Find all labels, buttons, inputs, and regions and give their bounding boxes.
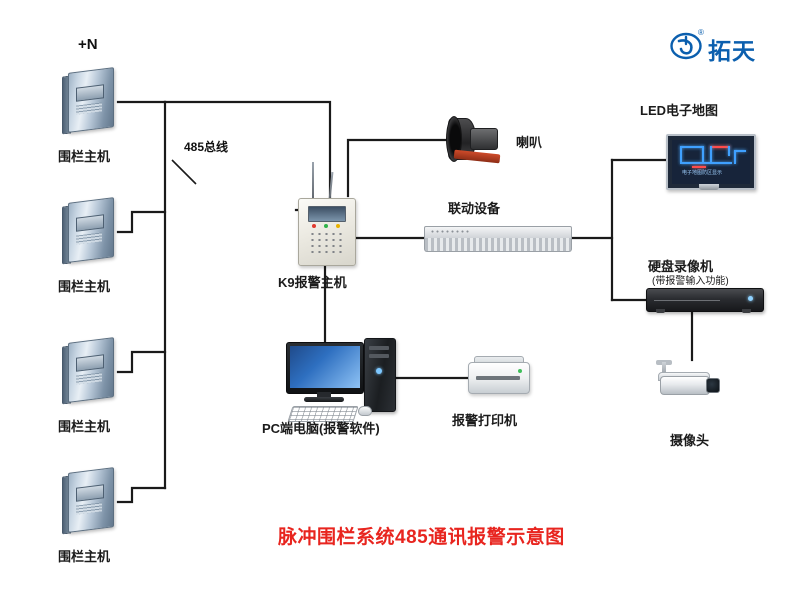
fence-host-icon[interactable] [62,470,118,532]
tower-bay [369,354,389,358]
brand-logo: ® 拓天 [670,28,780,70]
rack-vents [430,229,470,235]
linkage-rack-icon[interactable] [424,226,570,252]
dvr-trim [654,300,720,301]
led-map-screen: 电子地图防区显示 [672,140,750,184]
plus-n-label: +N [78,36,98,53]
status-led-red [312,224,316,228]
horn-bracket [454,150,501,164]
led-map-label: LED电子地图 [640,100,718,119]
dvr-sublabel: (带报警输入功能) [652,272,729,287]
dvr-foot [742,309,751,313]
fence-host-2-label: 围栏主机 [58,276,110,295]
monitor-base [304,397,344,402]
status-led-green [324,224,328,228]
desktop-pc-icon[interactable] [286,342,362,404]
fence-host-icon[interactable] [62,200,118,262]
device-display [308,206,346,222]
rack-bottom [424,238,572,252]
registered-mark: ® [698,28,704,37]
mouse-icon[interactable] [358,406,372,416]
monitor-bezel [286,342,364,394]
antenna-icon [312,162,314,200]
printer-icon[interactable] [468,356,528,396]
diagram-title: 脉冲围栏系统485通讯报警示意图 [278,522,565,549]
dvr-power-led [748,296,753,301]
led-map-caption: 电子地图防区显示 [682,169,722,176]
antenna-icon [329,172,334,200]
led-map-stand [699,184,719,190]
device-body [68,67,114,133]
fence-host-1-label: 围栏主机 [58,146,110,165]
horn-barrel [470,128,498,150]
pc-label: PC端电脑(报警软件) [262,418,380,437]
horn-label: 喇叭 [516,132,542,151]
keypad[interactable] [309,231,343,255]
camera-label: 摄像头 [670,430,709,449]
fence-host-icon[interactable] [62,70,118,132]
fence-host-4-label: 围栏主机 [58,546,110,565]
tower-bay [369,346,389,350]
pc-tower-icon[interactable] [364,338,394,410]
bus-label: 485总线 [184,138,228,155]
horn-speaker-icon[interactable] [448,116,514,164]
brand-name: 拓天 [708,32,756,66]
device-body [68,467,114,533]
status-led-amber [336,224,340,228]
dvr-foot [656,309,665,313]
printer-paper-slot [476,376,520,380]
device-body [68,197,114,263]
alarm-host-icon[interactable] [298,198,354,264]
camera-lens [706,378,720,393]
dvr-icon[interactable] [646,288,762,314]
camera-body [660,376,710,395]
fence-host-3-label: 围栏主机 [58,416,110,435]
led-map-icon[interactable]: 电子地图防区显示 [666,134,752,192]
printer-status-led [518,369,522,373]
linkage-label: 联动设备 [448,198,500,217]
monitor-screen [290,346,360,388]
tower-power-led [376,368,382,374]
device-body [68,337,114,403]
diagram-canvas: +N 485总线 围栏主机 围栏主机 围栏主机 围栏主机 [0,0,800,600]
fence-host-icon[interactable] [62,340,118,402]
led-map-frame: 电子地图防区显示 [666,134,756,190]
cctv-camera-icon[interactable] [656,360,720,410]
alarm-host-label: K9报警主机 [278,272,347,291]
printer-label: 报警打印机 [452,410,517,429]
